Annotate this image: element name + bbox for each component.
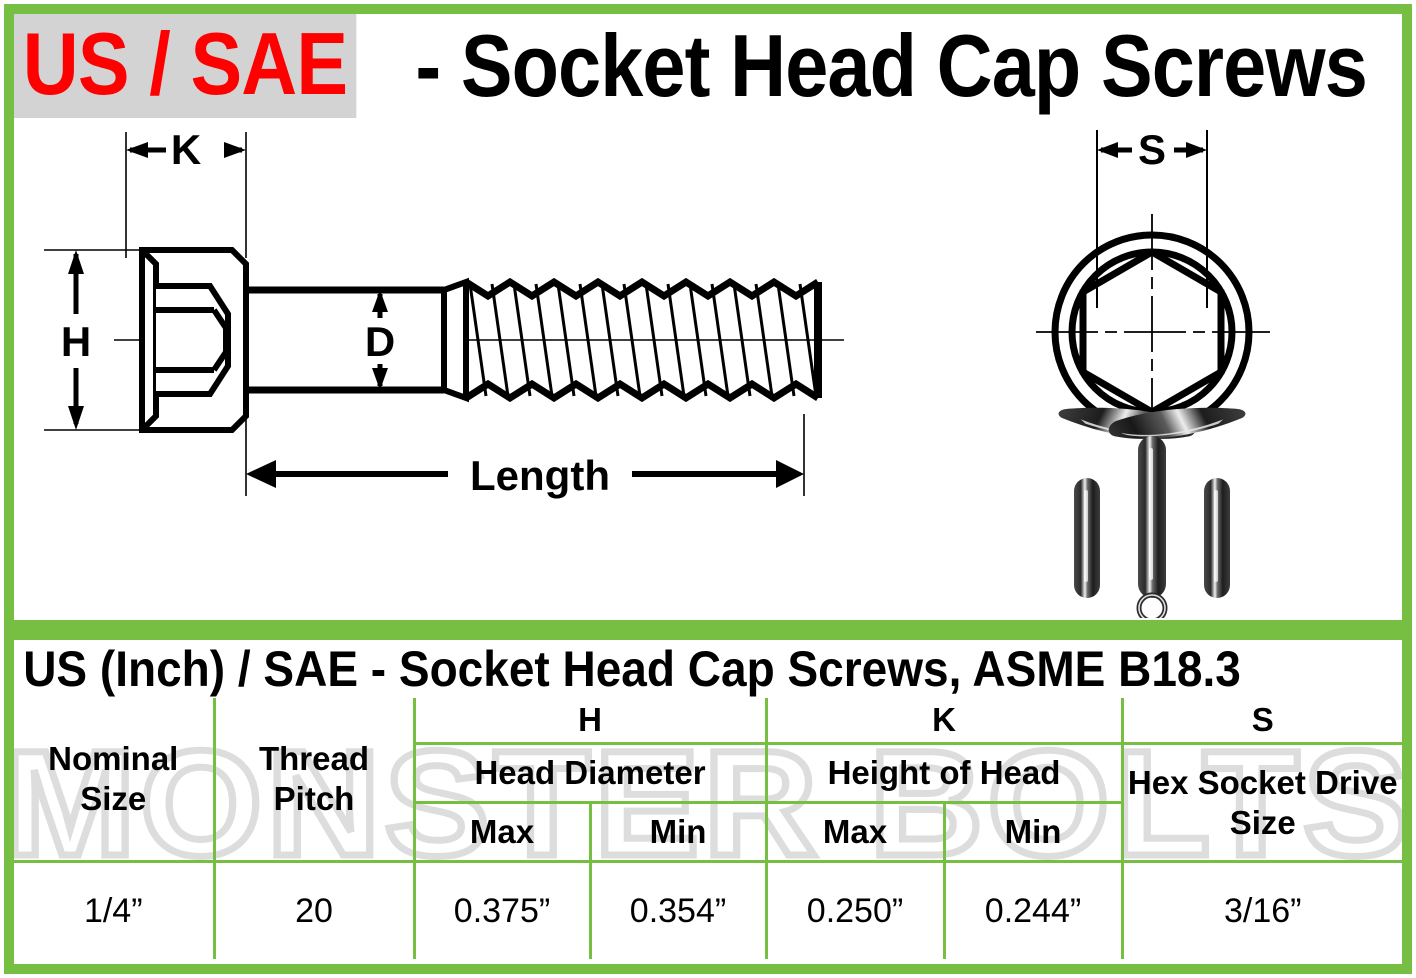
dimension-k: K xyxy=(126,126,246,173)
label-k: K xyxy=(171,126,201,173)
screw-shank xyxy=(246,290,444,390)
label-s: S xyxy=(1138,126,1166,173)
col-header-k-letter: K xyxy=(766,698,1122,744)
table-row: 1/4” 20 0.375” 0.354” 0.250” 0.244” 3/16… xyxy=(14,862,1402,960)
cell-head-height-max: 0.250” xyxy=(766,862,944,960)
cell-head-diameter-max: 0.375” xyxy=(414,862,590,960)
label-length: Length xyxy=(470,452,610,499)
screw-spec-sheet: US / SAE - Socket Head Cap Screws xyxy=(0,0,1416,978)
thread-crest-top xyxy=(466,282,818,296)
table-header-row-1: Nominal Size Thread Pitch H K S xyxy=(14,698,1402,744)
col-header-head-diameter-min: Min xyxy=(590,803,766,862)
dimension-s: S xyxy=(1097,126,1207,173)
title-badge-us-sae: US / SAE xyxy=(14,14,356,118)
dimension-length: Length xyxy=(246,452,804,499)
col-header-head-height-min: Min xyxy=(944,803,1122,862)
table-caption: US (Inch) / SAE - Socket Head Cap Screws… xyxy=(14,640,1402,698)
hex-key-straight-right xyxy=(1204,478,1230,598)
screw-side-view: K H xyxy=(44,126,844,499)
hex-socket-end-view: S xyxy=(1036,126,1270,450)
hex-key-curved-right xyxy=(1106,359,1246,486)
cell-head-diameter-min: 0.354” xyxy=(590,862,766,960)
col-header-height-of-head: Height of Head xyxy=(766,744,1122,803)
col-header-s-letter: S xyxy=(1122,698,1402,744)
technical-drawing: K H xyxy=(14,118,1402,618)
page-title: US / SAE - Socket Head Cap Screws xyxy=(14,14,1402,118)
cell-head-height-min: 0.244” xyxy=(944,862,1122,960)
spec-table-wrapper: MONSTER BOLTS Nominal Size Thread Pitch … xyxy=(14,698,1402,966)
thread-crest-bottom xyxy=(466,384,818,398)
cell-hex-socket-drive-size: 3/16” xyxy=(1122,862,1402,960)
table-caption-text: US (Inch) / SAE - Socket Head Cap Screws… xyxy=(14,642,1241,696)
col-header-head-diameter: Head Diameter xyxy=(414,744,766,803)
col-header-head-diameter-max: Max xyxy=(414,803,590,862)
col-header-h-letter: H xyxy=(414,698,766,744)
col-header-nominal-size: Nominal Size xyxy=(14,698,214,862)
cell-nominal-size: 1/4” xyxy=(14,862,214,960)
col-header-head-height-max: Max xyxy=(766,803,944,862)
title-rest: - Socket Head Cap Screws xyxy=(403,18,1367,114)
col-header-thread-pitch: Thread Pitch xyxy=(214,698,414,862)
label-d: D xyxy=(365,318,395,365)
cell-thread-pitch: 20 xyxy=(214,862,414,960)
hex-key-center xyxy=(1138,436,1166,618)
dimension-h: H xyxy=(61,250,91,430)
col-header-hex-socket-drive-size: Hex Socket Drive Size xyxy=(1122,744,1402,862)
spec-table: Nominal Size Thread Pitch H K S Head Dia… xyxy=(14,698,1402,959)
hex-key-straight-left xyxy=(1074,478,1100,598)
hex-socket-recess xyxy=(156,286,228,394)
label-h: H xyxy=(61,318,91,365)
drawing-svg: K H xyxy=(14,118,1402,618)
